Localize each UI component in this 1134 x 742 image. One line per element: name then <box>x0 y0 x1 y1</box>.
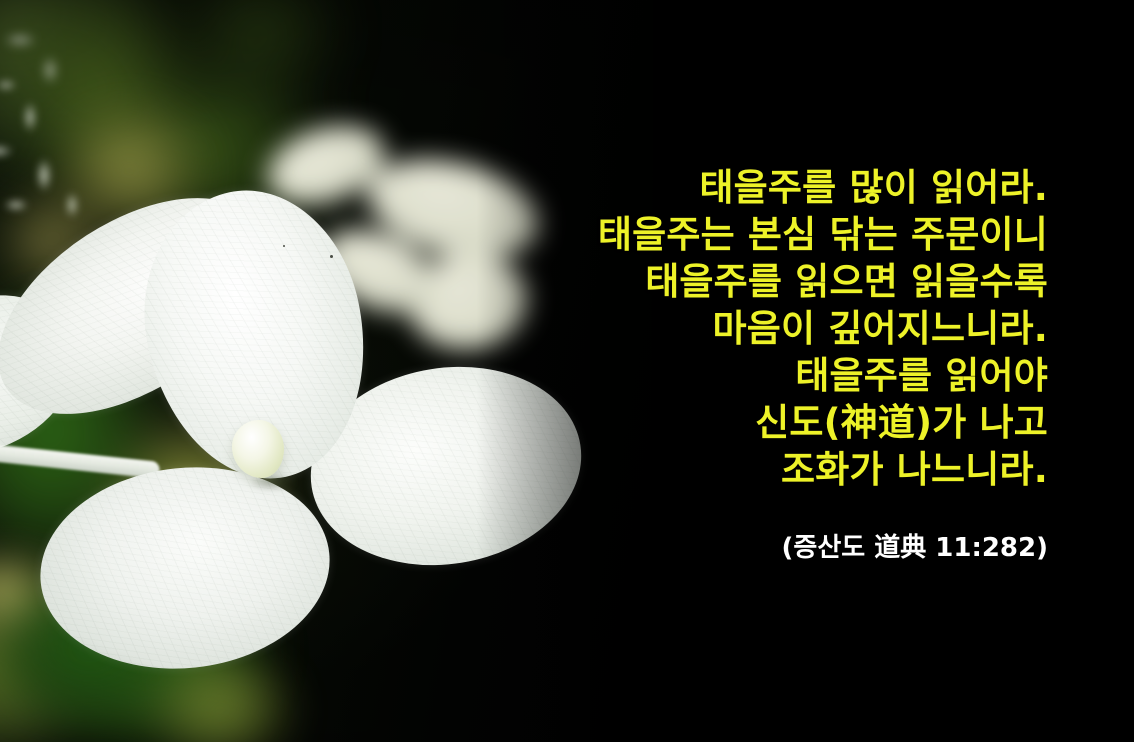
quote-line-4: 마음이 깊어지느니라. <box>408 305 1048 352</box>
flower-stem <box>0 442 160 479</box>
quote-line-5: 태을주를 읽어야 <box>408 352 1048 399</box>
quote-line-6: 신도(神道)가 나고 <box>408 399 1048 446</box>
quote-text: 태을주를 많이 읽어라. 태을주는 본심 닦는 주문이니 태을주를 읽으면 읽을… <box>408 164 1048 493</box>
image-canvas: 태을주를 많이 읽어라. 태을주는 본심 닦는 주문이니 태을주를 읽으면 읽을… <box>0 0 1134 742</box>
source-citation: (증산도 道典 11:282) <box>782 531 1048 565</box>
petal-speck <box>283 245 285 247</box>
quote-line-7: 조화가 나느니라. <box>408 446 1048 493</box>
quote-line-1: 태을주를 많이 읽어라. <box>408 164 1048 211</box>
quote-line-3: 태을주를 읽으면 읽을수록 <box>408 258 1048 305</box>
petal-speck <box>330 255 333 258</box>
quote-line-2: 태을주는 본심 닦는 주문이니 <box>408 211 1048 258</box>
